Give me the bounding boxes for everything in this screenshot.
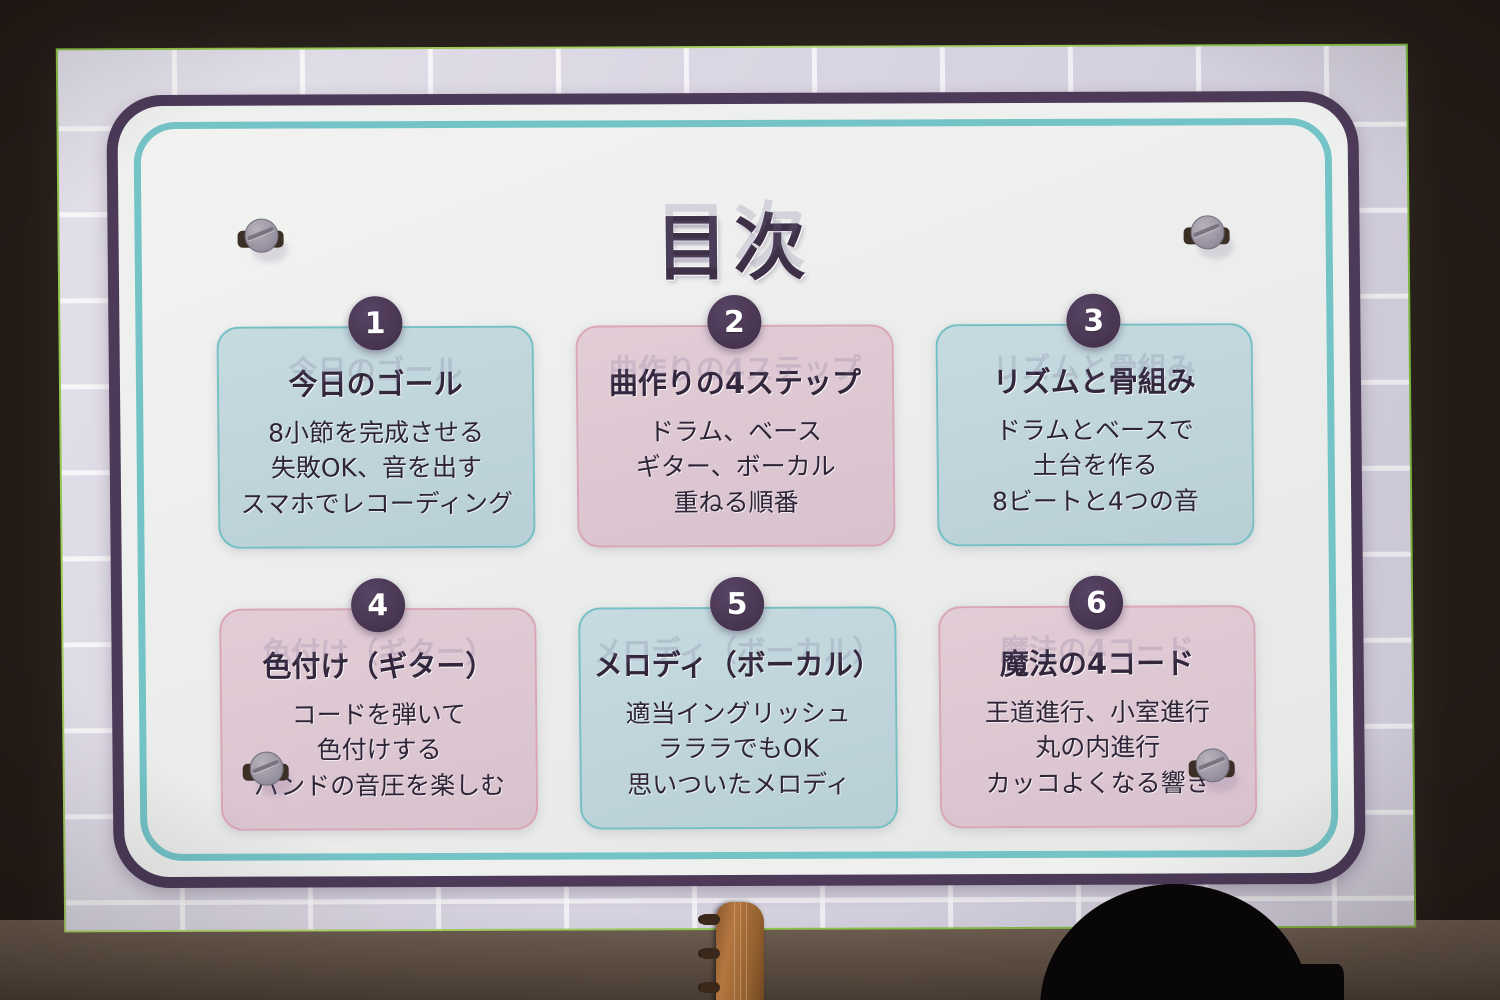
agenda-card-3[interactable]: 3 リズムと骨組み リズムと骨組み ドラムとベースで 土台を作る 8ビートと4つ… [935, 323, 1254, 546]
agenda-card-title-text-6: 魔法の4コード [1000, 646, 1195, 681]
agenda-card-line: 土台を作る [992, 448, 1199, 484]
agenda-card-title-text-4: 色付け（ギター） [262, 649, 494, 684]
agenda-number-badge-2: 2 [707, 295, 762, 349]
agenda-card-lines-3: ドラムとベースで 土台を作る 8ビートと4つの音 [991, 412, 1199, 519]
agenda-card-1[interactable]: 1 今日のゴール 今日のゴール 8小節を完成させる 失敗OK、音を出す スマホで… [216, 326, 535, 549]
agenda-card-line: スマホでレコーディング [240, 486, 513, 522]
agenda-card-title-text-5: メロディ（ボーカル） [594, 647, 882, 682]
photo-scene: 目次 目次 1 今日のゴール 今日のゴール 8小節を完成させる 失敗OK、音を出… [0, 0, 1500, 1000]
agenda-number-badge-5: 5 [710, 577, 765, 631]
agenda-card-line: ドラム、ベース [635, 413, 835, 449]
agenda-number-badge-4: 4 [351, 578, 406, 632]
agenda-card-line: カッコよくなる響き [985, 765, 1210, 801]
agenda-card-line: 色付けする [253, 732, 505, 768]
guitar-headstock [716, 902, 764, 1000]
agenda-card-line: 失敗OK、音を出す [240, 450, 513, 486]
agenda-card-lines-1: 8小節を完成させる 失敗OK、音を出す スマホでレコーディング [240, 415, 514, 522]
agenda-card-title-text-3: リズムと骨組み [993, 364, 1196, 399]
agenda-card-lines-5: 適当イングリッシュ ラララでもOK 思いついたメロディ [625, 695, 851, 802]
agenda-card-line: 丸の内進行 [985, 730, 1210, 766]
agenda-card-line: ラララでもOK [626, 731, 851, 767]
agenda-card-lines-6: 王道進行、小室進行 丸の内進行 カッコよくなる響き [985, 694, 1211, 801]
agenda-card-title-text-2: 曲作りの4ステップ [609, 365, 862, 400]
agenda-card-2[interactable]: 2 曲作りの4ステップ 曲作りの4ステップ ドラム、ベース ギター、ボーカル 重… [576, 324, 895, 547]
projected-slide: 目次 目次 1 今日のゴール 今日のゴール 8小節を完成させる 失敗OK、音を出… [58, 46, 1414, 931]
slide-inner-frame: 目次 目次 1 今日のゴール 今日のゴール 8小節を完成させる 失敗OK、音を出… [133, 118, 1338, 861]
agenda-number-badge-6: 6 [1069, 576, 1124, 630]
agenda-card-title-3: リズムと骨組み リズムと骨組み [993, 358, 1196, 401]
agenda-card-title-2: 曲作りの4ステップ 曲作りの4ステップ [609, 359, 862, 402]
agenda-card-line: ドラムとベースで [991, 412, 1198, 448]
agenda-card-6[interactable]: 6 魔法の4コード 魔法の4コード 王道進行、小室進行 丸の内進行 カッコよくな… [938, 605, 1257, 828]
agenda-card-4[interactable]: 4 色付け（ギター） 色付け（ギター） コードを弾いて 色付けする バンドの音圧… [219, 608, 538, 831]
agenda-card-lines-2: ドラム、ベース ギター、ボーカル 重ねる順番 [635, 413, 836, 520]
slide-title-text: 目次 [655, 206, 812, 291]
slide-title: 目次 目次 [141, 187, 1326, 296]
agenda-card-5[interactable]: 5 メロディ（ボーカル） メロディ（ボーカル） 適当イングリッシュ ラララでもO… [578, 606, 897, 829]
agenda-card-line: 適当イングリッシュ [625, 695, 850, 731]
agenda-card-line: 8小節を完成させる [240, 415, 513, 451]
agenda-card-line: 王道進行、小室進行 [985, 694, 1210, 730]
agenda-number-badge-3: 3 [1066, 294, 1121, 348]
agenda-card-title-6: 魔法の4コード 魔法の4コード [1000, 640, 1195, 683]
screw-icon-bottom-right [1189, 746, 1235, 790]
agenda-card-title-4: 色付け（ギター） 色付け（ギター） [262, 643, 494, 686]
agenda-card-line: 思いついたメロディ [626, 766, 851, 802]
screw-icon-bottom-left [242, 750, 288, 794]
agenda-card-line: 重ねる順番 [636, 484, 836, 520]
agenda-card-line: コードを弾いて [253, 697, 505, 733]
agenda-card-line: 8ビートと4つの音 [992, 483, 1199, 519]
agenda-card-title-text-1: 今日のゴール [288, 367, 462, 402]
agenda-card-title-5: メロディ（ボーカル） メロディ（ボーカル） [593, 641, 881, 684]
agenda-card-grid: 1 今日のゴール 今日のゴール 8小節を完成させる 失敗OK、音を出す スマホで… [216, 323, 1257, 831]
slide-outer-frame: 目次 目次 1 今日のゴール 今日のゴール 8小節を完成させる 失敗OK、音を出… [106, 91, 1366, 888]
agenda-card-title-1: 今日のゴール 今日のゴール [288, 361, 462, 404]
agenda-card-line: ギター、ボーカル [636, 449, 836, 485]
agenda-number-badge-1: 1 [348, 296, 403, 350]
